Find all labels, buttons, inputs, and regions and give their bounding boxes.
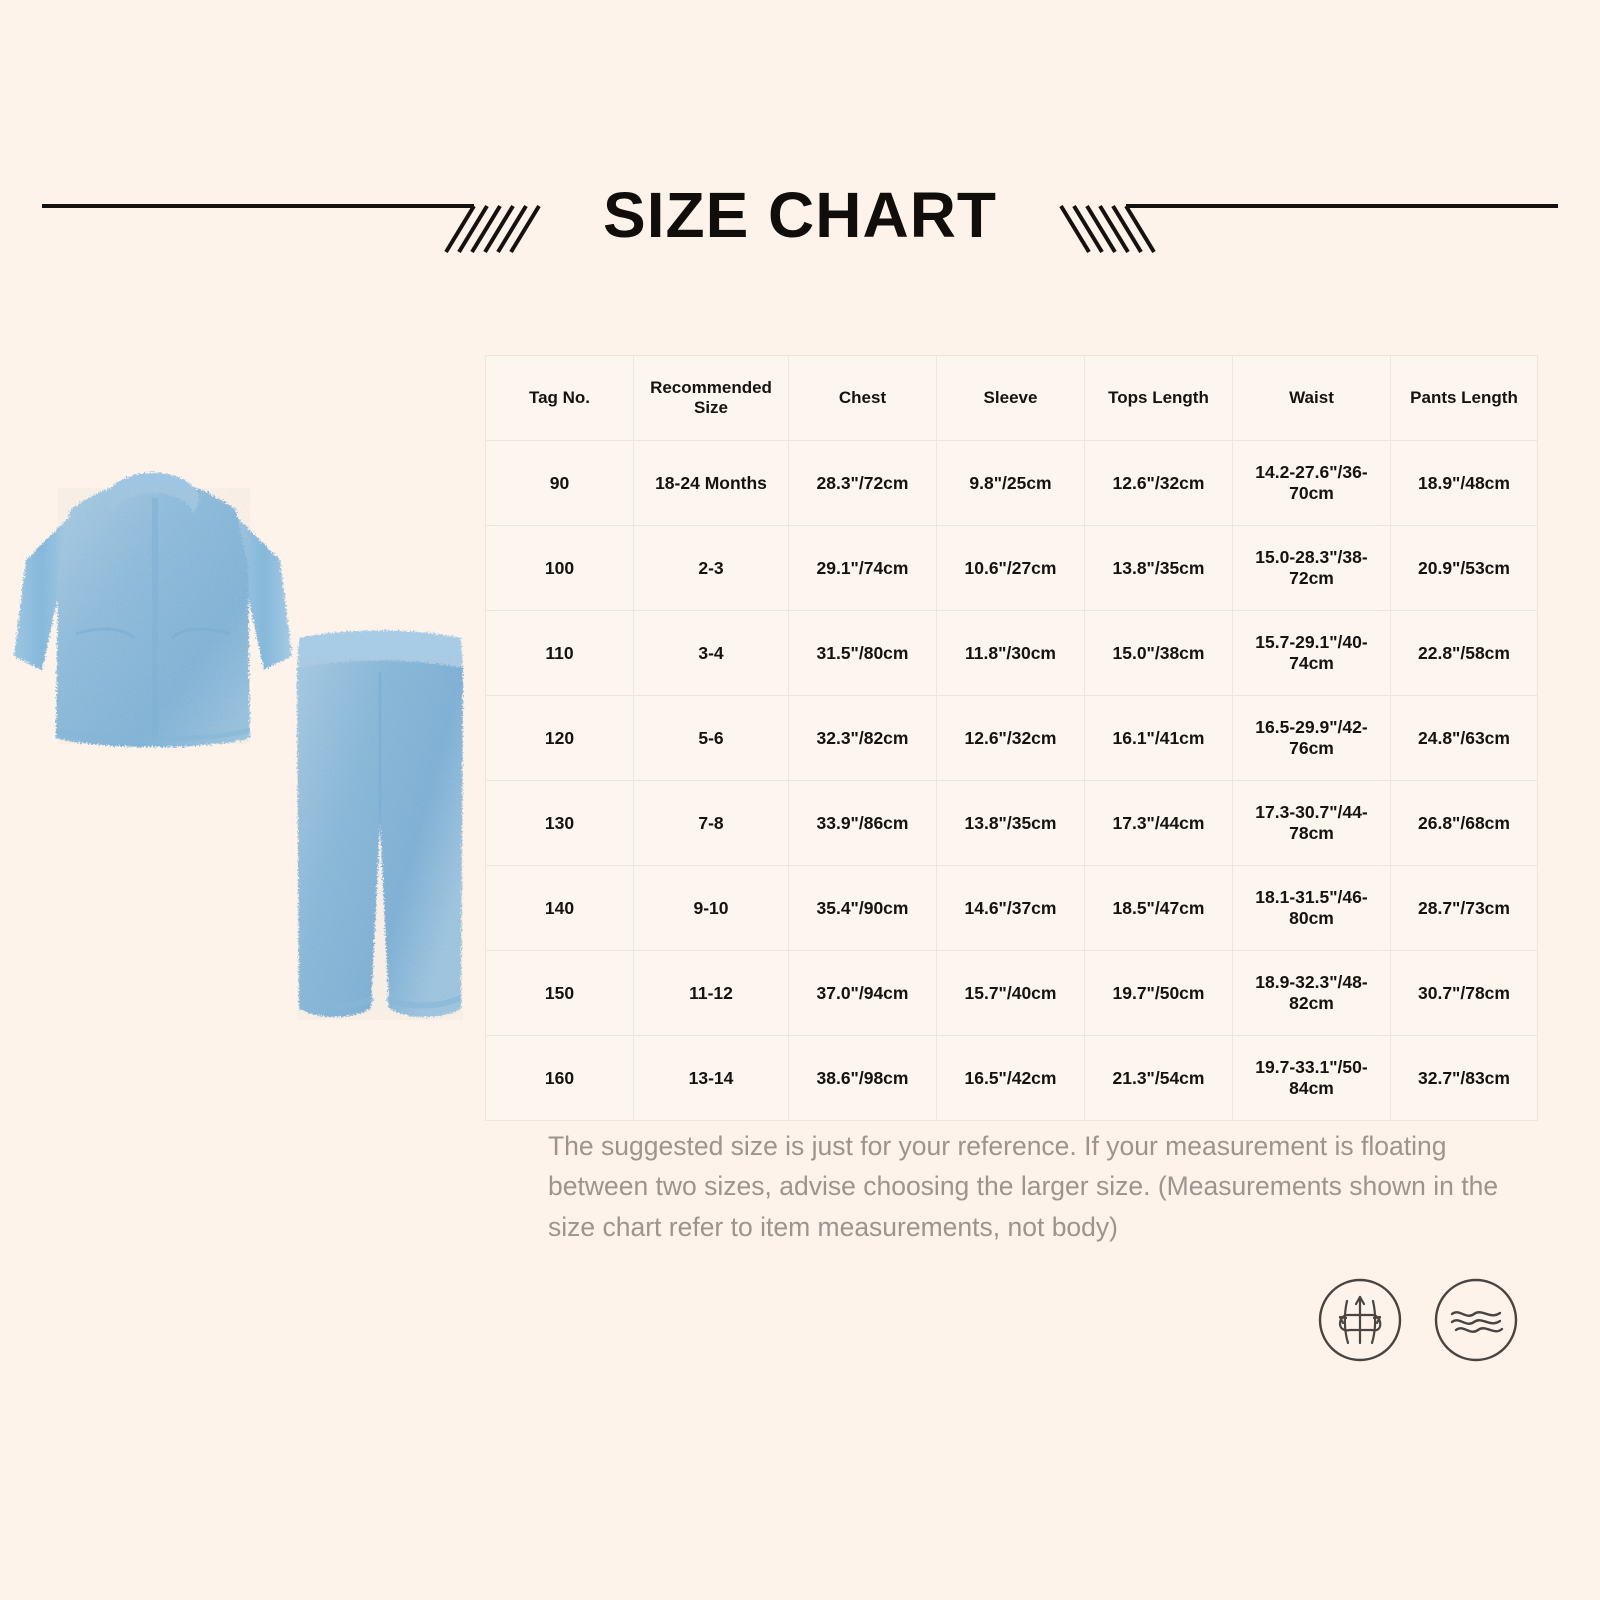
cell-chest: 28.3"/72cm <box>789 441 937 526</box>
cell-chest: 32.3"/82cm <box>789 696 937 781</box>
column-header-pants-length: Pants Length <box>1391 356 1538 441</box>
page-title: SIZE CHART <box>563 183 1037 247</box>
cell-tops-length: 21.3"/54cm <box>1085 1036 1233 1121</box>
cell-waist: 16.5-29.9"/42-76cm <box>1233 696 1391 781</box>
cell-sleeve: 15.7"/40cm <box>937 951 1085 1036</box>
wavy-lines-icon <box>1426 1270 1526 1370</box>
cell-recommended: 7-8 <box>634 781 789 866</box>
cell-sleeve: 14.6"/37cm <box>937 866 1085 951</box>
cell-chest: 33.9"/86cm <box>789 781 937 866</box>
fabric-thread-icon <box>1310 1270 1410 1370</box>
table-row: 140 9-10 35.4"/90cm 14.6"/37cm 18.5"/47c… <box>486 866 1538 951</box>
table-header-row: Tag No. Recommended Size Chest Sleeve To… <box>486 356 1538 441</box>
cell-sleeve: 12.6"/32cm <box>937 696 1085 781</box>
cell-tops-length: 19.7"/50cm <box>1085 951 1233 1036</box>
cell-tops-length: 18.5"/47cm <box>1085 866 1233 951</box>
cell-tag: 140 <box>486 866 634 951</box>
cell-chest: 35.4"/90cm <box>789 866 937 951</box>
pants-image <box>285 628 475 1040</box>
cell-pants-length: 26.8"/68cm <box>1391 781 1538 866</box>
cell-sleeve: 9.8"/25cm <box>937 441 1085 526</box>
cell-tops-length: 13.8"/35cm <box>1085 526 1233 611</box>
table-row: 160 13-14 38.6"/98cm 16.5"/42cm 21.3"/54… <box>486 1036 1538 1121</box>
cell-tops-length: 16.1"/41cm <box>1085 696 1233 781</box>
cell-tops-length: 12.6"/32cm <box>1085 441 1233 526</box>
jacket-image <box>8 438 298 778</box>
size-note: The suggested size is just for your refe… <box>548 1126 1523 1247</box>
cell-chest: 37.0"/94cm <box>789 951 937 1036</box>
table-row: 100 2-3 29.1"/74cm 10.6"/27cm 13.8"/35cm… <box>486 526 1538 611</box>
cell-tag: 110 <box>486 611 634 696</box>
hatched-rule-right <box>1038 160 1558 270</box>
cell-chest: 31.5"/80cm <box>789 611 937 696</box>
column-header-sleeve: Sleeve <box>937 356 1085 441</box>
cell-sleeve: 16.5"/42cm <box>937 1036 1085 1121</box>
cell-sleeve: 13.8"/35cm <box>937 781 1085 866</box>
cell-tag: 100 <box>486 526 634 611</box>
cell-sleeve: 10.6"/27cm <box>937 526 1085 611</box>
hatched-rule-left <box>42 160 562 270</box>
title-band: SIZE CHART <box>0 160 1600 270</box>
column-header-recommended-size: Recommended Size <box>634 356 789 441</box>
cell-chest: 38.6"/98cm <box>789 1036 937 1121</box>
table-row: 90 18-24 Months 28.3"/72cm 9.8"/25cm 12.… <box>486 441 1538 526</box>
column-header-tag-no: Tag No. <box>486 356 634 441</box>
cell-tag: 90 <box>486 441 634 526</box>
cell-waist: 18.9-32.3"/48-82cm <box>1233 951 1391 1036</box>
cell-recommended: 2-3 <box>634 526 789 611</box>
cell-recommended: 9-10 <box>634 866 789 951</box>
cell-recommended: 11-12 <box>634 951 789 1036</box>
column-header-tops-length: Tops Length <box>1085 356 1233 441</box>
cell-tag: 160 <box>486 1036 634 1121</box>
cell-pants-length: 24.8"/63cm <box>1391 696 1538 781</box>
cell-pants-length: 20.9"/53cm <box>1391 526 1538 611</box>
cell-waist: 14.2-27.6"/36-70cm <box>1233 441 1391 526</box>
cell-recommended: 13-14 <box>634 1036 789 1121</box>
cell-pants-length: 32.7"/83cm <box>1391 1036 1538 1121</box>
cell-recommended: 3-4 <box>634 611 789 696</box>
cell-chest: 29.1"/74cm <box>789 526 937 611</box>
size-chart-table: Tag No. Recommended Size Chest Sleeve To… <box>485 355 1538 1121</box>
cell-sleeve: 11.8"/30cm <box>937 611 1085 696</box>
table-row: 110 3-4 31.5"/80cm 11.8"/30cm 15.0"/38cm… <box>486 611 1538 696</box>
product-images <box>0 400 470 1080</box>
cell-tops-length: 17.3"/44cm <box>1085 781 1233 866</box>
column-header-waist: Waist <box>1233 356 1391 441</box>
cell-waist: 15.0-28.3"/38-72cm <box>1233 526 1391 611</box>
table-row: 150 11-12 37.0"/94cm 15.7"/40cm 19.7"/50… <box>486 951 1538 1036</box>
cell-waist: 15.7-29.1"/40-74cm <box>1233 611 1391 696</box>
cell-pants-length: 18.9"/48cm <box>1391 441 1538 526</box>
cell-waist: 18.1-31.5"/46-80cm <box>1233 866 1391 951</box>
cell-pants-length: 22.8"/58cm <box>1391 611 1538 696</box>
cell-waist: 19.7-33.1"/50-84cm <box>1233 1036 1391 1121</box>
cell-recommended: 18-24 Months <box>634 441 789 526</box>
cell-recommended: 5-6 <box>634 696 789 781</box>
cell-pants-length: 30.7"/78cm <box>1391 951 1538 1036</box>
cell-pants-length: 28.7"/73cm <box>1391 866 1538 951</box>
cell-tag: 120 <box>486 696 634 781</box>
table-row: 130 7-8 33.9"/86cm 13.8"/35cm 17.3"/44cm… <box>486 781 1538 866</box>
column-header-chest: Chest <box>789 356 937 441</box>
cell-tag: 150 <box>486 951 634 1036</box>
table-row: 120 5-6 32.3"/82cm 12.6"/32cm 16.1"/41cm… <box>486 696 1538 781</box>
care-icons <box>1310 1262 1540 1377</box>
cell-tag: 130 <box>486 781 634 866</box>
cell-tops-length: 15.0"/38cm <box>1085 611 1233 696</box>
cell-waist: 17.3-30.7"/44-78cm <box>1233 781 1391 866</box>
